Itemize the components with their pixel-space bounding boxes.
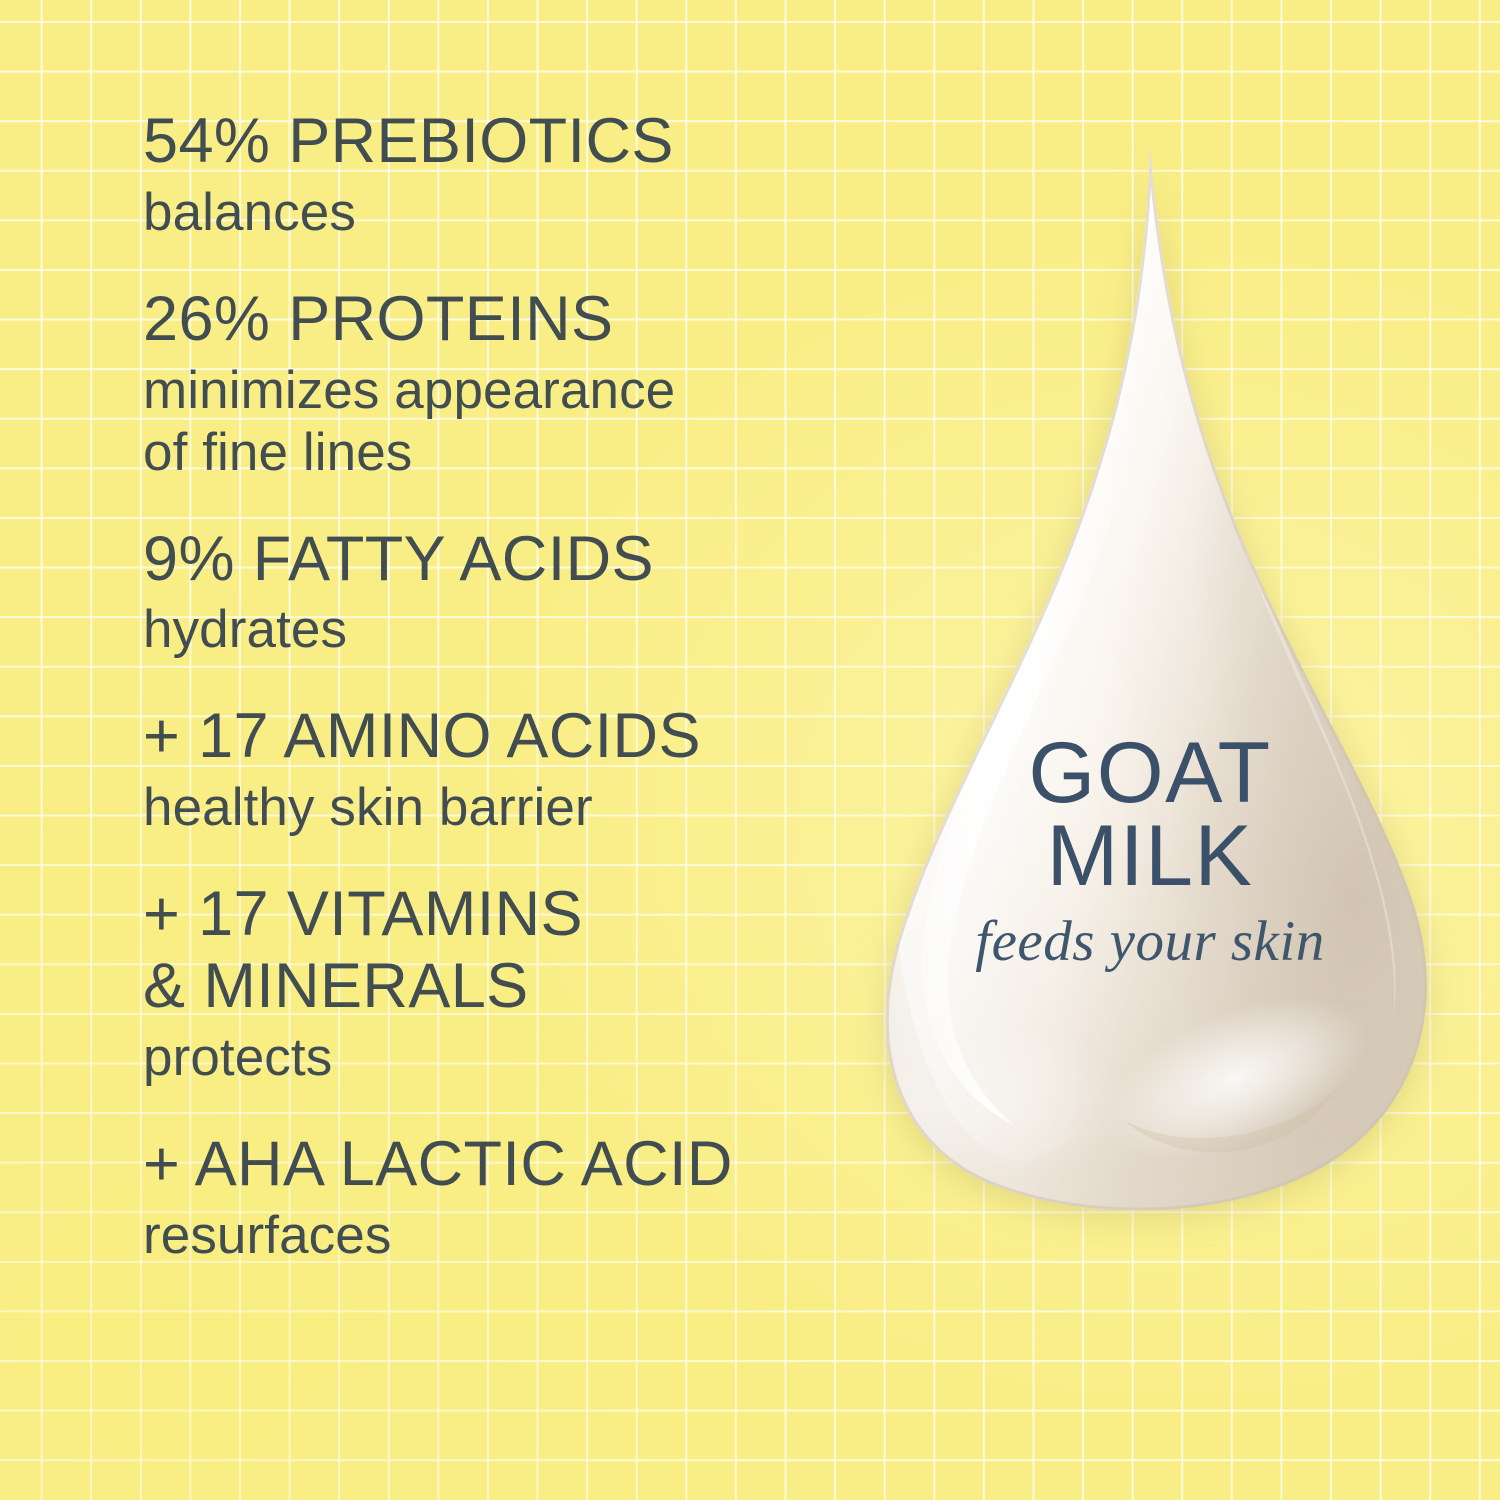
ingredient-item-aha-lactic-acid: + AHA LACTIC ACID resurfaces: [143, 1129, 863, 1267]
ingredient-item-amino-acids: + 17 AMINO ACIDS healthy skin barrier: [143, 701, 863, 839]
goat-milk-ingredient-poster: 54% PREBIOTICS balances 26% PROTEINS min…: [0, 0, 1500, 1500]
ingredient-item-prebiotics: 54% PREBIOTICS balances: [143, 106, 863, 244]
ingredient-benefit: protects: [143, 1027, 863, 1089]
ingredient-headline: 26% PROTEINS: [143, 284, 863, 356]
ingredient-benefit: resurfaces: [143, 1205, 863, 1267]
brand-word-milk: MILK: [845, 815, 1455, 898]
brand-tagline: feeds your skin: [845, 913, 1455, 970]
droplet-brand-text: GOAT MILK feeds your skin: [845, 732, 1455, 970]
ingredient-headline: + 17 AMINO ACIDS: [143, 701, 863, 773]
ingredient-item-vitamins-minerals: + 17 VITAMINS & MINERALS protects: [143, 879, 863, 1089]
ingredient-headline: + 17 VITAMINS & MINERALS: [143, 879, 863, 1023]
ingredient-headline: + AHA LACTIC ACID: [143, 1129, 863, 1201]
ingredient-benefit: balances: [143, 182, 863, 244]
ingredient-item-proteins: 26% PROTEINS minimizes appearance of fin…: [143, 284, 863, 484]
ingredient-headline: 54% PREBIOTICS: [143, 106, 863, 178]
ingredient-item-fatty-acids: 9% FATTY ACIDS hydrates: [143, 524, 863, 662]
brand-word-goat: GOAT: [845, 732, 1455, 815]
ingredient-benefit: hydrates: [143, 599, 863, 661]
milk-droplet-graphic: GOAT MILK feeds your skin: [845, 140, 1455, 1210]
ingredient-headline: 9% FATTY ACIDS: [143, 524, 863, 596]
ingredient-benefit: healthy skin barrier: [143, 777, 863, 839]
ingredient-benefit: minimizes appearance of fine lines: [143, 360, 863, 484]
ingredient-list: 54% PREBIOTICS balances 26% PROTEINS min…: [143, 106, 863, 1267]
milk-droplet-icon: [845, 140, 1455, 1210]
